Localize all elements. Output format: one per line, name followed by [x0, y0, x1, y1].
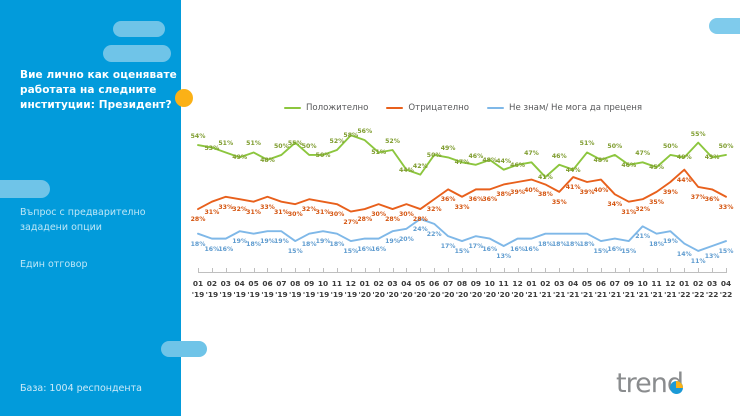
data-label: 44%: [399, 167, 414, 174]
data-label: 15%: [594, 248, 609, 255]
trend-logo: trend: [616, 368, 683, 399]
data-label: 58%: [343, 132, 358, 139]
data-label: 50%: [663, 143, 678, 150]
data-label: 33%: [455, 204, 470, 211]
data-label: 19%: [232, 238, 247, 245]
data-label: 39%: [663, 189, 678, 196]
data-label: 15%: [719, 248, 734, 255]
x-tick: [531, 268, 532, 273]
x-tick: [351, 268, 352, 273]
data-label: 53%: [204, 145, 219, 152]
x-tick: [448, 268, 449, 273]
data-label: 39%: [580, 189, 595, 196]
data-label: 51%: [580, 140, 595, 147]
data-label: 36%: [482, 196, 497, 203]
x-tick: [365, 268, 366, 273]
x-tick: [309, 268, 310, 273]
data-label: 18%: [552, 241, 567, 248]
data-label: 49%: [232, 154, 247, 161]
x-tick: [267, 268, 268, 273]
data-label: 46%: [510, 162, 525, 169]
data-label: 18%: [580, 241, 595, 248]
data-label: 51%: [218, 140, 233, 147]
data-label: 50%: [316, 152, 331, 159]
data-label: 51%: [246, 140, 261, 147]
decoration-blob-2: [103, 45, 171, 62]
legend-item-1[interactable]: Положително: [284, 103, 368, 113]
data-label: 14%: [677, 251, 692, 258]
x-tick: [462, 268, 463, 273]
data-label: 47%: [455, 159, 470, 166]
chart-legend: ПоложителноОтрицателноНе знам/ Не мога д…: [186, 103, 740, 113]
data-label: 50%: [719, 143, 734, 150]
x-axis-ticks: [198, 268, 726, 273]
x-axis-labels: 01'1902'1903'1904'1905'1906'1907'1908'19…: [198, 278, 726, 302]
legend-item-2[interactable]: Отрицателно: [386, 103, 469, 113]
data-label: 55%: [288, 140, 303, 147]
data-label: 35%: [552, 199, 567, 206]
data-label: 44%: [496, 158, 511, 165]
data-label: 16%: [371, 246, 386, 253]
data-label: 40%: [594, 187, 609, 194]
legend-swatch-icon: [284, 107, 301, 110]
data-label: 55%: [691, 131, 706, 138]
data-label: 16%: [357, 246, 372, 253]
x-axis-label: 04'22: [715, 278, 737, 300]
data-label: 16%: [218, 246, 233, 253]
x-tick: [615, 268, 616, 273]
x-tick: [629, 268, 630, 273]
data-label: 28%: [413, 216, 428, 223]
data-label: 18%: [566, 241, 581, 248]
data-label: 15%: [621, 248, 636, 255]
data-label: 16%: [510, 246, 525, 253]
x-tick: [684, 268, 685, 273]
data-label: 18%: [191, 241, 206, 248]
data-label: 13%: [705, 253, 720, 260]
data-label: 18%: [538, 241, 553, 248]
x-tick: [379, 268, 380, 273]
data-label: 18%: [330, 241, 345, 248]
data-label: 42%: [413, 163, 428, 170]
x-tick: [657, 268, 658, 273]
x-tick: [726, 268, 727, 273]
data-label: 11%: [691, 258, 706, 265]
data-label: 28%: [191, 216, 206, 223]
data-label: 52%: [330, 138, 345, 145]
data-label: 47%: [635, 150, 650, 157]
legend-label: Положително: [306, 103, 368, 113]
data-label: 32%: [635, 206, 650, 213]
data-label: 30%: [399, 211, 414, 218]
x-tick: [281, 268, 282, 273]
data-label: 15%: [343, 248, 358, 255]
data-label: 28%: [385, 216, 400, 223]
x-tick: [198, 268, 199, 273]
data-label: 20%: [399, 236, 414, 243]
x-tick: [698, 268, 699, 273]
data-label: 33%: [218, 204, 233, 211]
data-label: 49%: [705, 154, 720, 161]
data-label: 48%: [260, 157, 275, 164]
decoration-blob-1: [113, 21, 165, 37]
data-label: 22%: [427, 231, 442, 238]
data-label: 50%: [607, 143, 622, 150]
data-label: 18%: [302, 241, 317, 248]
data-label: 40%: [524, 187, 539, 194]
legend-label: Отрицателно: [408, 103, 469, 113]
x-tick: [337, 268, 338, 273]
x-tick: [545, 268, 546, 273]
x-tick: [670, 268, 671, 273]
data-label: 41%: [538, 174, 553, 181]
data-label: 30%: [330, 211, 345, 218]
decoration-blob-3: [0, 180, 50, 198]
x-tick: [240, 268, 241, 273]
data-label: 38%: [538, 191, 553, 198]
x-tick: [295, 268, 296, 273]
data-label: 31%: [246, 209, 261, 216]
legend-swatch-icon: [386, 107, 403, 110]
base-label: База: 1004 респондента: [20, 383, 142, 394]
x-tick: [518, 268, 519, 273]
data-label: 33%: [719, 204, 734, 211]
x-tick: [476, 268, 477, 273]
data-label: 21%: [635, 233, 650, 240]
data-label: 19%: [274, 238, 289, 245]
x-tick: [559, 268, 560, 273]
question-title: Вие лично как оценявате работата на след…: [20, 68, 180, 113]
data-label: 32%: [302, 206, 317, 213]
data-label: 44%: [566, 167, 581, 174]
x-tick: [573, 268, 574, 273]
question-note-line1: Въпрос с предварително: [20, 206, 175, 221]
question-note: Въпрос с предварително зададени опции: [20, 206, 175, 235]
data-label: 31%: [204, 209, 219, 216]
x-tick: [643, 268, 644, 273]
data-label: 18%: [649, 241, 664, 248]
data-label: 39%: [510, 189, 525, 196]
x-tick: [434, 268, 435, 273]
x-tick: [420, 268, 421, 273]
data-label: 16%: [607, 246, 622, 253]
x-tick: [212, 268, 213, 273]
data-label: 19%: [385, 238, 400, 245]
data-label: 17%: [468, 243, 483, 250]
data-label: 46%: [468, 153, 483, 160]
data-label: 51%: [371, 149, 386, 156]
x-tick: [587, 268, 588, 273]
data-label: 15%: [455, 248, 470, 255]
data-label: 17%: [441, 243, 456, 250]
data-label: 54%: [191, 133, 206, 140]
data-label: 31%: [316, 209, 331, 216]
data-label: 13%: [496, 253, 511, 260]
data-label: 35%: [649, 199, 664, 206]
x-tick: [226, 268, 227, 273]
chart-area: ПоложителноОтрицателноНе знам/ Не мога д…: [186, 0, 740, 416]
data-label: 32%: [427, 206, 442, 213]
data-label: 50%: [274, 143, 289, 150]
x-tick: [406, 268, 407, 273]
data-label: 46%: [621, 162, 636, 169]
data-label: 16%: [482, 246, 497, 253]
data-label: 52%: [385, 138, 400, 145]
data-label: 49%: [441, 145, 456, 152]
data-label: 31%: [621, 209, 636, 216]
data-label: 24%: [413, 226, 428, 233]
data-label: 44%: [677, 177, 692, 184]
data-label: 16%: [204, 246, 219, 253]
x-tick: [601, 268, 602, 273]
legend-swatch-icon: [487, 107, 504, 110]
data-label: 36%: [468, 196, 483, 203]
data-label: 50%: [427, 152, 442, 159]
data-label: 41%: [566, 184, 581, 191]
data-label: 46%: [552, 153, 567, 160]
x-tick: [323, 268, 324, 273]
data-label: 15%: [288, 248, 303, 255]
data-label: 47%: [524, 150, 539, 157]
data-label: 30%: [288, 211, 303, 218]
data-label: 38%: [496, 191, 511, 198]
data-label: 48%: [594, 157, 609, 164]
answer-mode: Един отговор: [20, 258, 175, 273]
data-label: 56%: [357, 128, 372, 135]
x-tick: [712, 268, 713, 273]
data-label: 37%: [691, 194, 706, 201]
x-tick: [504, 268, 505, 273]
data-label: 28%: [357, 216, 372, 223]
data-label: 19%: [316, 238, 331, 245]
data-label: 50%: [302, 143, 317, 150]
data-label: 36%: [441, 196, 456, 203]
data-label: 18%: [246, 241, 261, 248]
data-label: 45%: [649, 164, 664, 171]
data-label: 34%: [607, 201, 622, 208]
data-label: 49%: [677, 154, 692, 161]
data-label: 16%: [524, 246, 539, 253]
question-note-line2: зададени опции: [20, 221, 175, 236]
logo-mark-icon: [670, 381, 683, 394]
data-label: 19%: [260, 238, 275, 245]
x-tick: [254, 268, 255, 273]
x-tick: [490, 268, 491, 273]
data-label: 27%: [343, 219, 358, 226]
data-label: 30%: [371, 211, 386, 218]
data-label: 31%: [274, 209, 289, 216]
data-label: 32%: [232, 206, 247, 213]
data-label: 33%: [260, 204, 275, 211]
chart-plot: 54%53%51%49%51%48%50%55%50%50%52%58%56%5…: [186, 118, 740, 278]
x-tick: [393, 268, 394, 273]
data-label: 36%: [705, 196, 720, 203]
legend-label: Не знам/ Не мога да преценя: [509, 103, 642, 113]
data-label: 48%: [482, 157, 497, 164]
legend-item-3[interactable]: Не знам/ Не мога да преценя: [487, 103, 642, 113]
data-label: 19%: [663, 238, 678, 245]
